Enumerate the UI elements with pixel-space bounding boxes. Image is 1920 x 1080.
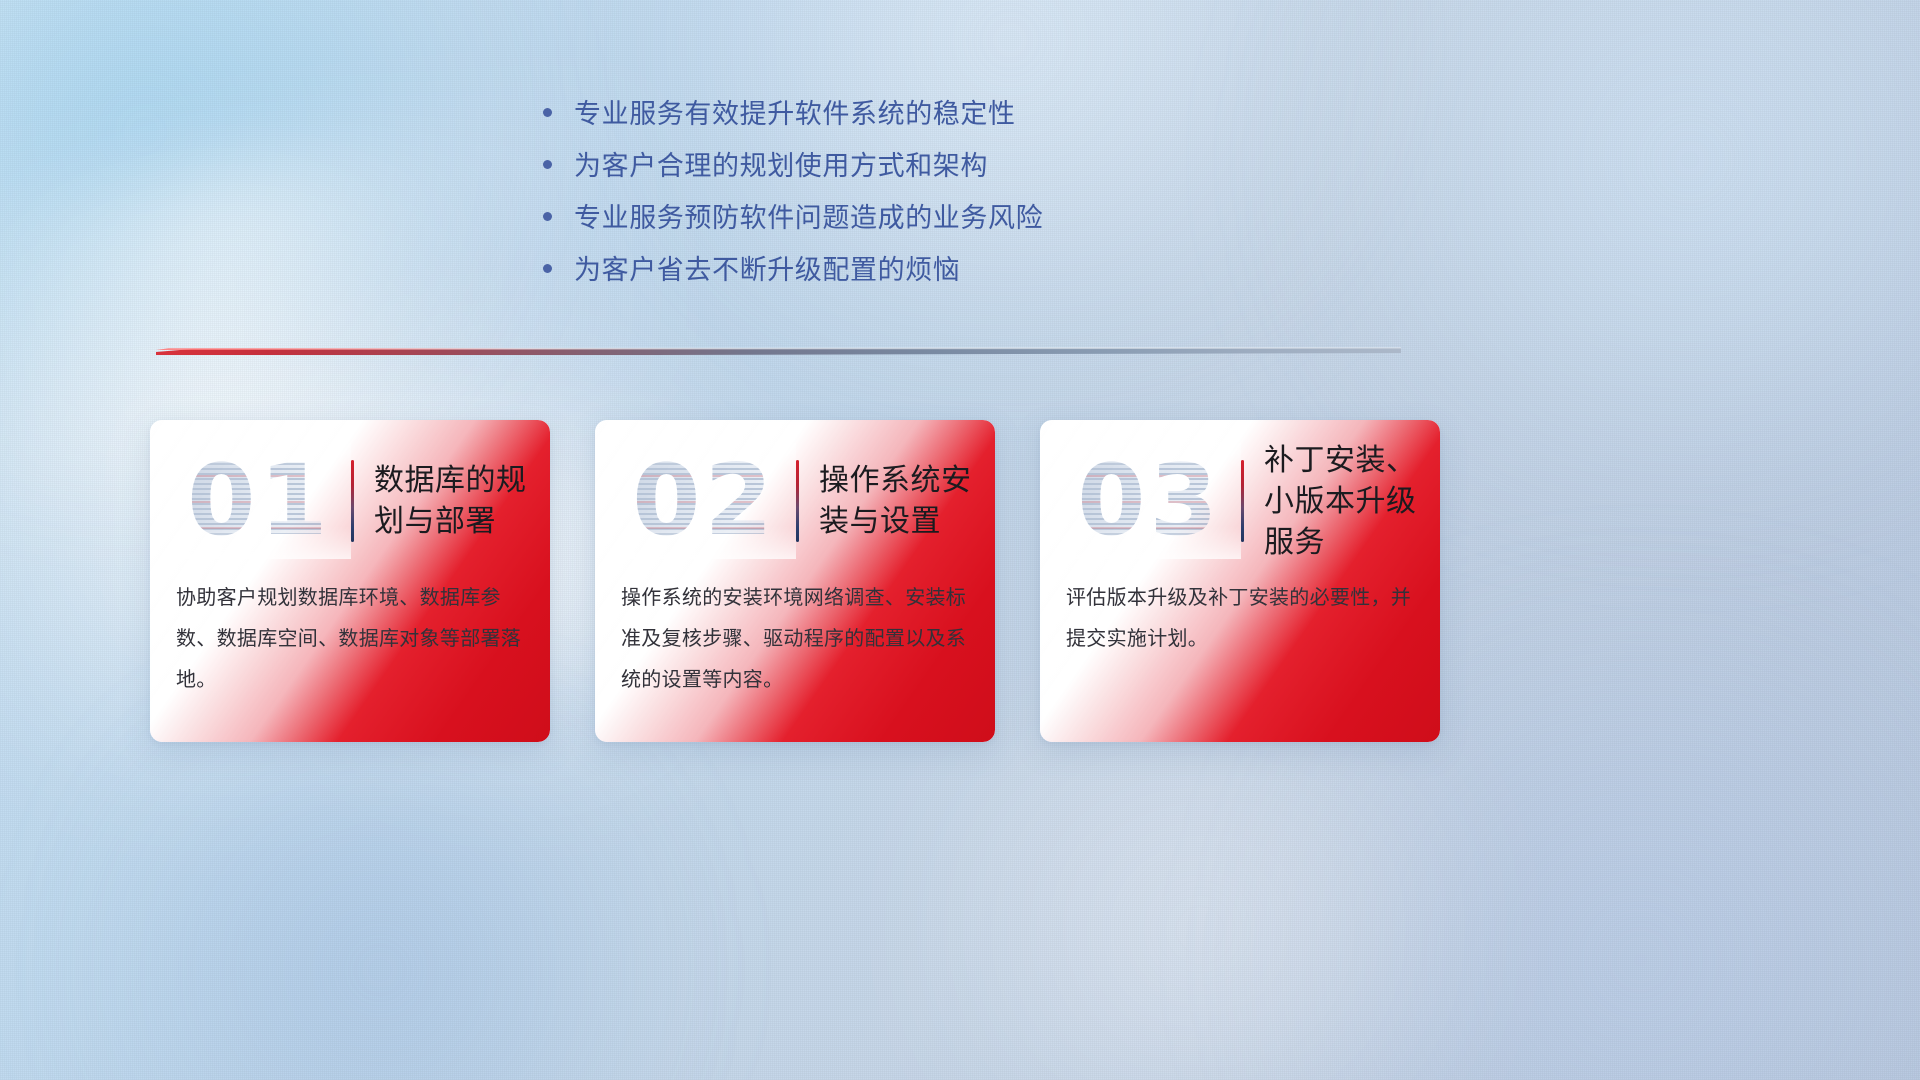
card-title: 操作系统安装与设置: [819, 460, 995, 542]
card-number-watermark: 01 01: [172, 447, 347, 555]
list-item: 为客户合理的规划使用方式和架构: [536, 140, 1296, 192]
card-number-tint: 02: [617, 447, 792, 555]
card-header: 02 02 操作系统安装与设置: [595, 442, 995, 560]
card-header: 01 01 数据库的规划与部署: [150, 442, 550, 560]
card-description: 操作系统的安装环境网络调查、安装标准及复核步骤、驱动程序的配置以及系统的设置等内…: [621, 578, 969, 701]
card-description: 评估版本升级及补丁安装的必要性，并提交实施计划。: [1066, 578, 1414, 660]
card-title: 数据库的规划与部署: [374, 460, 550, 542]
card-number-watermark: 02 02: [617, 447, 792, 555]
card-title-rule: [351, 460, 354, 542]
bullet-dot-icon: [543, 160, 552, 169]
list-item: 专业服务预防软件问题造成的业务风险: [536, 192, 1296, 244]
bullet-text: 专业服务预防软件问题造成的业务风险: [574, 192, 1043, 244]
bullet-text: 为客户省去不断升级配置的烦恼: [574, 244, 960, 296]
bullet-dot-icon: [543, 212, 552, 221]
benefits-bullet-list: 专业服务有效提升软件系统的稳定性 为客户合理的规划使用方式和架构 专业服务预防软…: [536, 88, 1296, 296]
card-title: 补丁安装、小版本升级服务: [1264, 440, 1440, 563]
card-header: 03 03 补丁安装、小版本升级服务: [1040, 442, 1440, 560]
card-number-tint: 03: [1062, 447, 1237, 555]
service-card[interactable]: 02 02 操作系统安装与设置 操作系统的安装环境网络调查、安装标准及复核步骤、…: [595, 420, 995, 742]
card-description: 协助客户规划数据库环境、数据库参数、数据库空间、数据库对象等部署落地。: [176, 578, 524, 701]
card-number-watermark: 03 03: [1062, 447, 1237, 555]
bullet-text: 为客户合理的规划使用方式和架构: [574, 140, 988, 192]
list-item: 专业服务有效提升软件系统的稳定性: [536, 88, 1296, 140]
service-card[interactable]: 03 03 补丁安装、小版本升级服务 评估版本升级及补丁安装的必要性，并提交实施…: [1040, 420, 1440, 742]
bullet-dot-icon: [543, 108, 552, 117]
bullet-text: 专业服务有效提升软件系统的稳定性: [574, 88, 1016, 140]
card-title-rule: [1241, 460, 1244, 542]
service-card-group: 01 01 数据库的规划与部署 协助客户规划数据库环境、数据库参数、数据库空间、…: [150, 420, 1440, 742]
section-divider: [156, 344, 1401, 360]
card-number-tint: 01: [172, 447, 347, 555]
service-card[interactable]: 01 01 数据库的规划与部署 协助客户规划数据库环境、数据库参数、数据库空间、…: [150, 420, 550, 742]
bullet-dot-icon: [543, 264, 552, 273]
card-title-rule: [796, 460, 799, 542]
list-item: 为客户省去不断升级配置的烦恼: [536, 244, 1296, 296]
